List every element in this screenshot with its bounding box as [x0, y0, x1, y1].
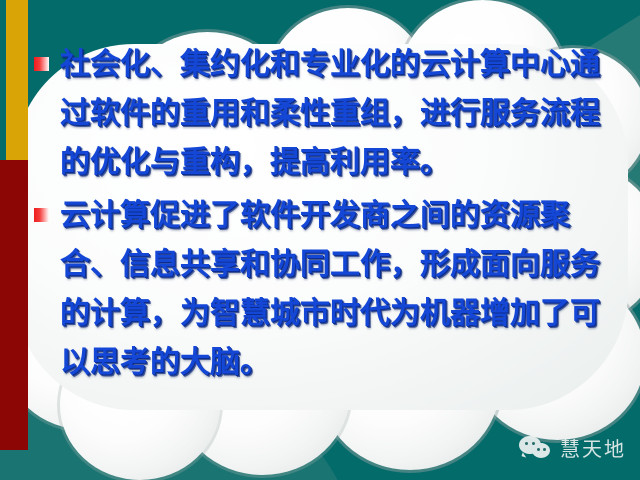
- left-gold-bar: [6, 0, 28, 160]
- left-red-bar: [0, 160, 28, 450]
- bullet-text: 社会化、集约化和专业化的云计算中心通过软件的重用和柔性重组，进行服务流程的优化与…: [60, 40, 626, 187]
- bullet-item: 社会化、集约化和专业化的云计算中心通过软件的重用和柔性重组，进行服务流程的优化与…: [30, 40, 626, 187]
- bullet-text: 云计算促进了软件开发商之间的资源聚合、信息共享和协同工作，形成面向服务的计算，为…: [60, 191, 626, 387]
- red-square-bullet-icon: [34, 57, 49, 71]
- wechat-eye-dot: [532, 442, 535, 445]
- wechat-icon: [519, 436, 553, 460]
- watermark-label: 慧天地: [560, 433, 626, 462]
- wechat-eye-dot: [537, 448, 540, 451]
- wechat-eye-dot: [543, 448, 546, 451]
- bullet-item: 云计算促进了软件开发商之间的资源聚合、信息共享和协同工作，形成面向服务的计算，为…: [30, 191, 626, 387]
- presentation-slide: 社会化、集约化和专业化的云计算中心通过软件的重用和柔性重组，进行服务流程的优化与…: [0, 0, 640, 480]
- watermark: 慧天地: [519, 433, 626, 462]
- red-square-bullet-icon: [34, 208, 49, 222]
- wechat-bubble-small: [532, 443, 550, 458]
- slide-content: 社会化、集约化和专业化的云计算中心通过软件的重用和柔性重组，进行服务流程的优化与…: [30, 40, 626, 387]
- wechat-eye-dot: [525, 442, 528, 445]
